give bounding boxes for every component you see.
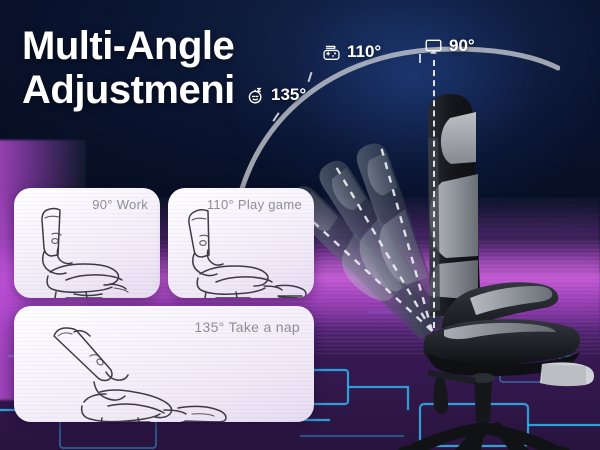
title-line-1: Multi-Angle <box>22 24 234 68</box>
angle-marker-90: 90° <box>424 36 475 56</box>
angle-label-135: 135° <box>271 85 306 105</box>
angle-label-110: 110° <box>347 42 381 62</box>
preset-card-work[interactable]: 90° Work <box>14 188 160 298</box>
angle-marker-135: 135° <box>246 85 306 105</box>
preset-card-play-game[interactable]: 110° Play game <box>168 188 314 298</box>
page-title: Multi-Angle Adjustmeni <box>22 24 235 112</box>
card-label-work: 90° Work <box>92 197 148 212</box>
title-line-2: Adjustmeni <box>22 68 235 112</box>
promo-banner: Multi-Angle Adjustmeni 135° 110° <box>0 0 600 450</box>
gaming-chair-product <box>366 78 600 450</box>
angle-reference-line-90 <box>433 60 435 328</box>
marker-tick-90 <box>419 54 421 63</box>
gamepad-icon <box>322 43 341 62</box>
preset-card-take-a-nap[interactable]: 135° Take a nap <box>14 306 314 422</box>
card-label-play-game: 110° Play game <box>207 197 302 212</box>
angle-marker-110: 110° <box>322 42 381 62</box>
card-label-take-a-nap: 135° Take a nap <box>194 319 300 335</box>
monitor-icon <box>424 37 443 56</box>
angle-label-90: 90° <box>449 36 475 56</box>
sleeping-face-icon <box>246 86 265 105</box>
